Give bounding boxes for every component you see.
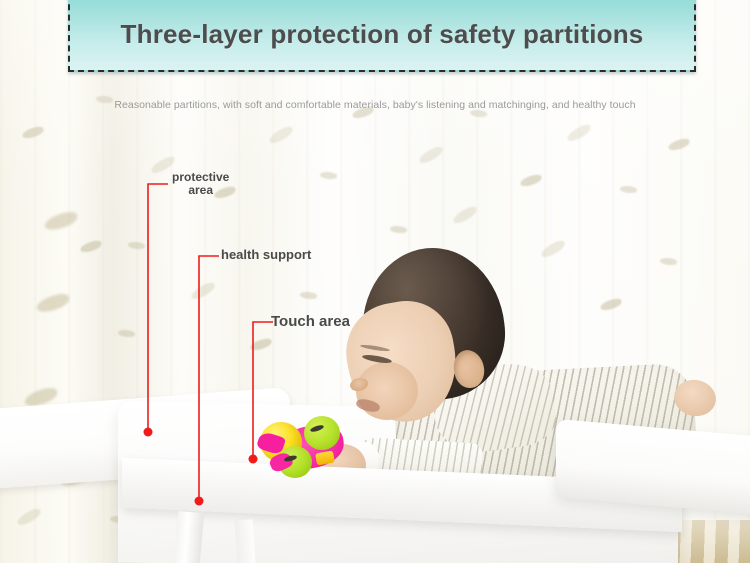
- leader-dot-touch: [249, 455, 258, 464]
- callout-label-health-support: health support: [221, 247, 311, 262]
- leader-line-touch: [253, 322, 273, 456]
- callout-label-touch-area: Touch area: [271, 313, 350, 330]
- leader-dot-protective: [144, 428, 153, 437]
- callout-annotations: protective area health support Touch are…: [0, 0, 750, 563]
- callout-label-protective-area: protective area: [172, 171, 229, 198]
- leader-dot-health: [195, 497, 204, 506]
- leader-line-health: [199, 256, 219, 498]
- leader-line-protective: [148, 184, 168, 429]
- leader-lines-svg: [0, 0, 750, 563]
